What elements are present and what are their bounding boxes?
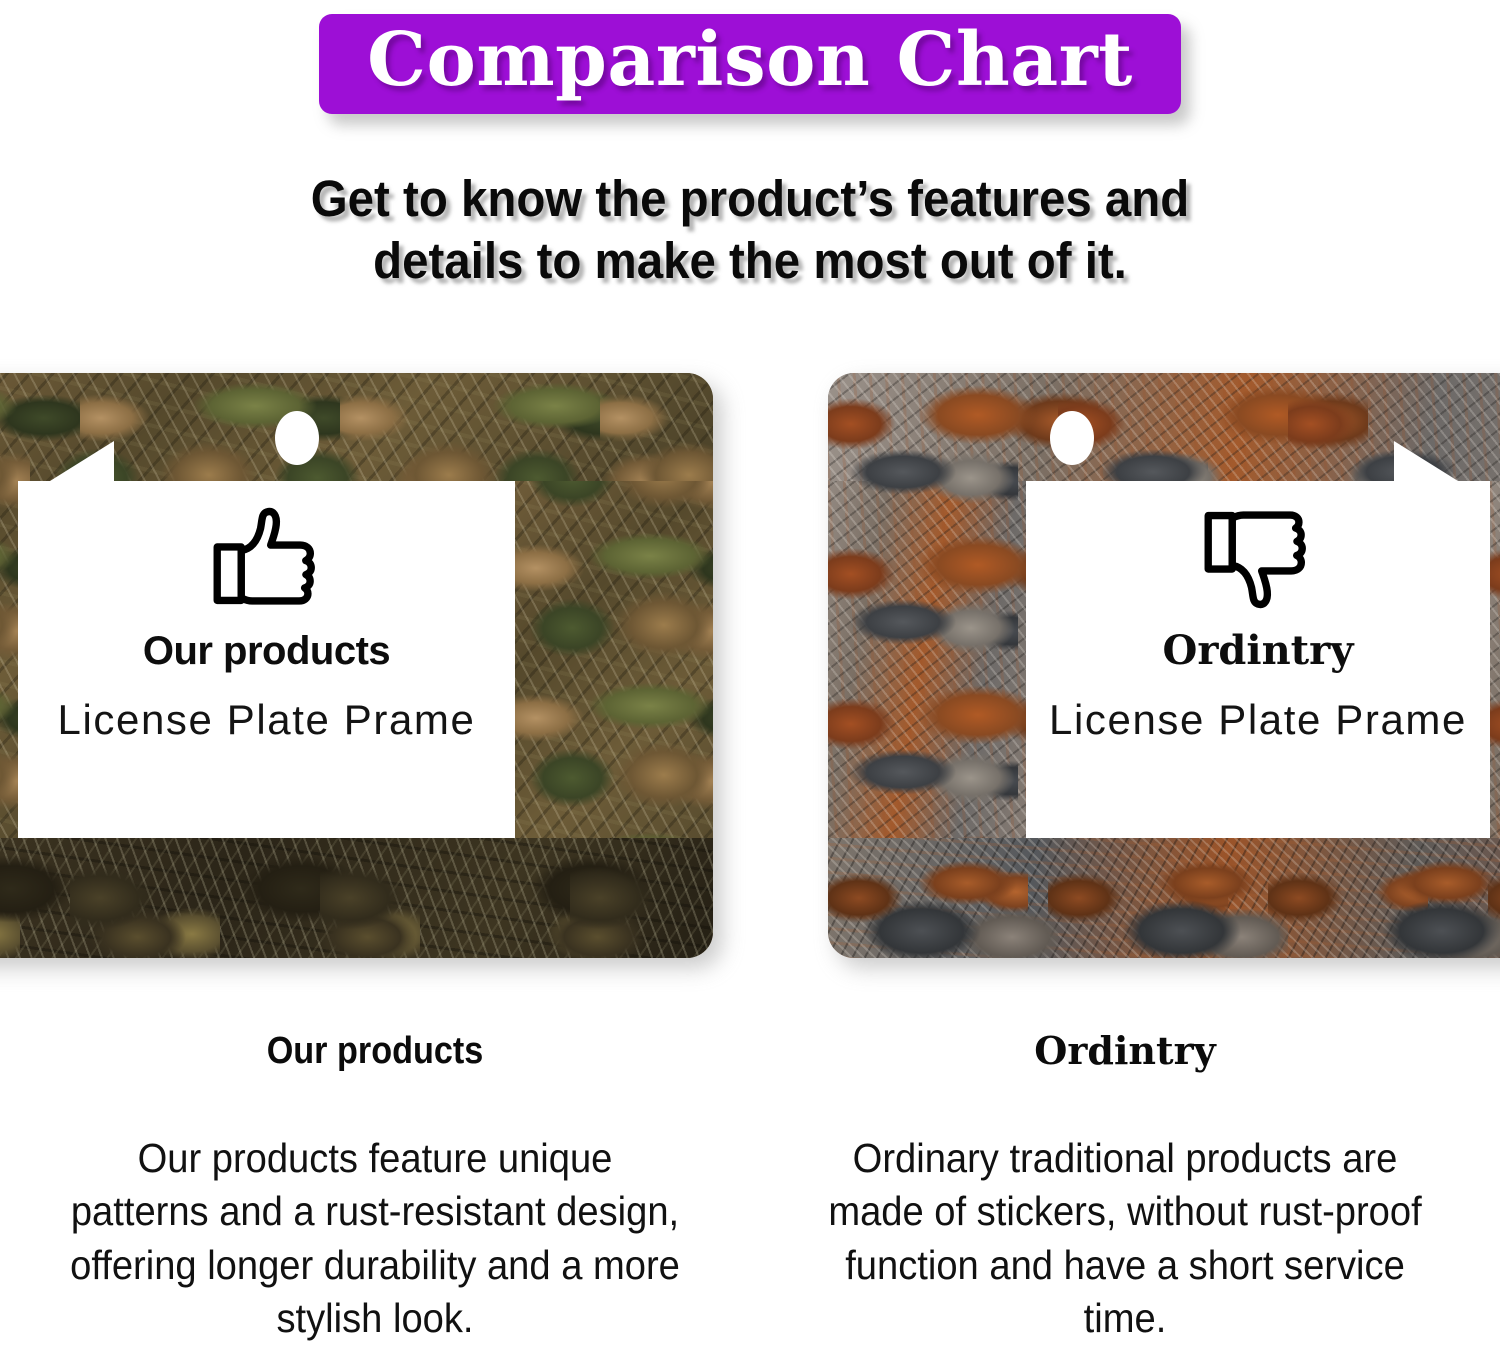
- frame-window-content: Our products License Plate Prame: [18, 481, 515, 838]
- comparison-columns: Our products Our products feature unique…: [0, 1032, 1500, 1345]
- title-banner-wrap: Comparison Chart: [0, 14, 1500, 114]
- column-heading: Our products: [74, 1032, 677, 1070]
- product-frames-row: Our products License Plate Prame Ordintr…: [0, 373, 1500, 963]
- panel-title: Our products: [143, 631, 390, 671]
- comparison-column-ordinary: Ordintry Ordinary traditional products a…: [750, 1032, 1500, 1345]
- comparison-column-ours: Our products Our products feature unique…: [0, 1032, 750, 1345]
- mounting-screw-hole: [275, 411, 319, 465]
- license-plate-frame-ours: Our products License Plate Prame: [0, 373, 713, 958]
- title-banner: Comparison Chart: [319, 14, 1181, 114]
- thumbs-up-icon: [207, 499, 327, 617]
- thumbs-down-icon: [1198, 499, 1318, 617]
- panel-title: Ordintry: [1163, 631, 1354, 671]
- column-body-text: Ordinary traditional products are made o…: [813, 1132, 1436, 1345]
- frame-bottom-bar: [828, 838, 1500, 958]
- frame-bottom-bar: [0, 838, 713, 958]
- mounting-screw-hole: [1050, 411, 1094, 465]
- panel-subtitle: License Plate Prame: [58, 699, 476, 741]
- frame-window-content: Ordintry License Plate Prame: [1026, 481, 1490, 838]
- subtitle-line-2: details to make the most out of it.: [53, 230, 1448, 292]
- subtitle-line-1: Get to know the product’s features and: [53, 168, 1448, 230]
- subtitle: Get to know the product’s features and d…: [53, 168, 1448, 292]
- column-body-text: Our products feature unique patterns and…: [63, 1132, 686, 1345]
- column-heading: Ordintry: [790, 1032, 1460, 1070]
- panel-subtitle: License Plate Prame: [1049, 699, 1467, 741]
- page-title: Comparison Chart: [367, 22, 1133, 100]
- comparison-chart-infographic: Comparison Chart Get to know the product…: [0, 0, 1500, 1364]
- license-plate-frame-ordinary: Ordintry License Plate Prame: [828, 373, 1500, 958]
